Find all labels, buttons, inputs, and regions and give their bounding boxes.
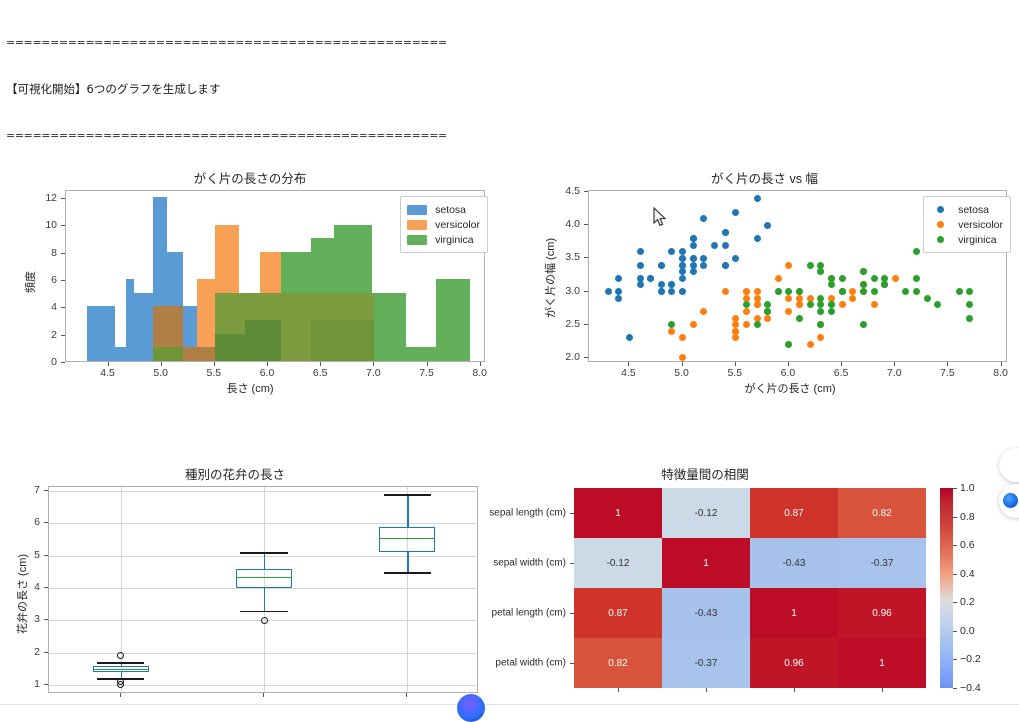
scatter-point	[934, 301, 941, 308]
x-tick-label: 5.5	[727, 367, 742, 379]
console-output-panel: ========================================…	[0, 0, 1019, 168]
y-tick-label: 5	[34, 549, 40, 561]
scatter-point	[754, 288, 761, 295]
scatter-point	[679, 354, 686, 361]
legend-dot-setosa	[937, 206, 944, 213]
scatter-point	[807, 301, 814, 308]
scatter-point	[679, 334, 686, 341]
y-tick-mark	[44, 522, 48, 523]
scatter-point	[817, 268, 824, 275]
heatmap-col-tick	[794, 688, 795, 692]
boxplot-title: 種別の花弁の長さ	[0, 464, 470, 483]
scatter-point	[700, 308, 707, 315]
scatter-point	[817, 334, 824, 341]
median-line	[236, 577, 292, 578]
scatter-point	[658, 288, 665, 295]
colorbar-tick-mark	[953, 488, 957, 489]
heatmap-row-label: petal length (cm)	[470, 608, 566, 619]
legend-item-virginica[interactable]: virginica	[930, 232, 1003, 247]
heatmap-colorbar: 1.00.80.60.40.20.0−0.2−0.4	[940, 488, 1010, 688]
scatter-title: がく片の長さ vs 幅	[510, 168, 1019, 187]
panel-heatmap: 特徴量間の相関 1-0.120.870.82-0.121-0.43-0.370.…	[470, 464, 1019, 707]
scatter-point	[722, 229, 729, 236]
x-tick-label: 6.0	[260, 367, 275, 379]
scatter-point	[732, 209, 739, 216]
scatter-point	[871, 301, 878, 308]
scatter-point	[860, 268, 867, 275]
y-tick-label: 2	[51, 329, 57, 341]
whisker-cap-upper	[384, 494, 431, 496]
y-tick-mark	[584, 191, 588, 192]
colorbar-tick-label: −0.4	[960, 682, 981, 694]
scatter-point	[732, 321, 739, 328]
heatmap-cell: 1	[838, 638, 926, 688]
outlier-marker	[117, 652, 124, 659]
colorbar-tick-mark	[953, 602, 957, 603]
y-tick-label: 7	[34, 484, 40, 496]
x-tick-label: 8.0	[993, 367, 1008, 379]
y-tick-mark	[584, 357, 588, 358]
page-divider	[0, 704, 1019, 705]
panel-histogram: がく片の長さの分布 頻度 長さ (cm) setosa versicolor v…	[0, 168, 500, 408]
scatter-point	[668, 321, 675, 328]
legend-item-setosa[interactable]: setosa	[930, 202, 1003, 217]
scatter-point	[615, 288, 622, 295]
heatmap-row-label: petal width (cm)	[470, 658, 566, 669]
y-tick-mark	[61, 335, 65, 336]
colorbar-tick-label: 0.8	[960, 511, 975, 523]
colorbar-tick-label: −0.2	[960, 653, 981, 665]
y-tick-label: 10	[45, 219, 57, 231]
heatmap-cell: 0.96	[750, 638, 838, 688]
x-tick-mark	[161, 362, 162, 366]
x-tick-mark	[373, 362, 374, 366]
x-tick-mark	[735, 362, 736, 366]
whisker-upper	[407, 494, 408, 527]
scatter-point	[690, 242, 697, 249]
scatter-point	[647, 275, 654, 282]
legend-item-setosa[interactable]: setosa	[407, 202, 480, 217]
colorbar-tick-mark	[953, 545, 957, 546]
histogram-bar-overlap	[311, 320, 334, 361]
x-tick-mark	[263, 693, 264, 697]
colorbar-tick-mark	[953, 517, 957, 518]
heatmap-cell: 0.87	[574, 588, 662, 638]
scatter-point	[817, 262, 824, 269]
matplotlib-figure: がく片の長さの分布 頻度 長さ (cm) setosa versicolor v…	[0, 168, 1019, 707]
y-tick-mark	[584, 291, 588, 292]
scatter-point	[743, 288, 750, 295]
histogram-bar-overlap	[183, 347, 197, 361]
histogram-bar-overlap	[334, 320, 374, 361]
scatter-point	[722, 288, 729, 295]
colorbar-tick-label: 0.6	[960, 539, 975, 551]
scatter-point	[690, 268, 697, 275]
scatter-point	[690, 235, 697, 242]
box-iqr	[236, 569, 292, 588]
category-grid-line	[121, 487, 122, 692]
grid-line	[49, 653, 477, 654]
scatter-point	[913, 288, 920, 295]
x-tick-label: 5.5	[207, 367, 222, 379]
median-line	[93, 669, 149, 670]
x-tick-label: 7.0	[887, 367, 902, 379]
scatter-point	[615, 295, 622, 302]
histogram-y-axis-label: 頻度	[22, 271, 38, 293]
y-tick-label: 6	[34, 516, 40, 528]
y-tick-label: 2.0	[565, 351, 580, 363]
legend-swatch-versicolor	[407, 220, 427, 230]
y-tick-mark	[44, 619, 48, 620]
scatter-point	[785, 341, 792, 348]
colorbar-tick-label: 0.2	[960, 596, 975, 608]
legend-label-virginica: virginica	[958, 234, 997, 246]
heatmap-cell: -0.43	[750, 538, 838, 588]
x-tick-mark	[788, 362, 789, 366]
heatmap-row-label: sepal length (cm)	[470, 508, 566, 519]
histogram-bar	[406, 347, 436, 361]
scatter-point	[924, 295, 931, 302]
grid-line	[49, 588, 477, 589]
y-tick-mark	[44, 652, 48, 653]
scatter-point	[732, 334, 739, 341]
heatmap-title: 特徴量間の相関	[470, 464, 940, 483]
scatter-point	[764, 222, 771, 229]
colorbar-tick-mark	[953, 688, 957, 689]
y-tick-label: 8	[51, 247, 57, 259]
x-tick-mark	[682, 362, 683, 366]
scatter-point	[722, 262, 729, 269]
heatmap-plot-area: 1-0.120.870.82-0.121-0.43-0.370.87-0.431…	[574, 488, 926, 688]
scatter-point	[807, 341, 814, 348]
scatter-point	[817, 321, 824, 328]
histogram-bar-overlap	[153, 347, 183, 361]
legend-label-versicolor: versicolor	[435, 219, 480, 231]
heatmap-cell: 1	[574, 488, 662, 538]
scatter-point	[796, 288, 803, 295]
y-tick-mark	[44, 587, 48, 588]
histogram-bar	[126, 279, 135, 361]
scatter-point	[754, 235, 761, 242]
y-tick-mark	[61, 362, 65, 363]
legend-swatch-setosa	[407, 205, 427, 215]
scatter-point	[775, 288, 782, 295]
scatter-y-axis-label: がく片の幅 (cm)	[542, 238, 558, 318]
scatter-point	[966, 315, 973, 322]
histogram-bar-overlap	[245, 320, 281, 361]
x-tick-label: 5.0	[674, 367, 689, 379]
y-tick-mark	[44, 490, 48, 491]
scatter-point	[860, 321, 867, 328]
y-tick-mark	[584, 224, 588, 225]
heatmap-col-tick	[882, 688, 883, 692]
y-tick-label: 3.5	[565, 251, 580, 263]
grid-line	[49, 556, 477, 557]
x-tick-mark	[628, 362, 629, 366]
scatter-point	[764, 308, 771, 315]
median-line	[379, 538, 435, 539]
scatter-point	[637, 281, 644, 288]
boxplot-y-axis-label: 花弁の長さ (cm)	[14, 554, 30, 634]
y-tick-label: 0	[51, 356, 57, 368]
scatter-point	[966, 288, 973, 295]
scatter-point	[743, 301, 750, 308]
scatter-point	[796, 301, 803, 308]
heatmap-cell: 0.96	[838, 588, 926, 638]
scatter-point	[764, 315, 771, 322]
scatter-point	[902, 288, 909, 295]
whisker-lower	[264, 588, 265, 611]
y-tick-label: 2	[34, 646, 40, 658]
scatter-point	[754, 301, 761, 308]
scatter-point	[732, 328, 739, 335]
scatter-point	[637, 275, 644, 282]
y-tick-label: 12	[45, 192, 57, 204]
whisker-cap-lower	[240, 611, 287, 613]
legend-item-versicolor[interactable]: versicolor	[930, 217, 1003, 232]
scatter-point	[722, 242, 729, 249]
x-tick-mark	[214, 362, 215, 366]
scatter-point	[732, 255, 739, 262]
scatter-point	[892, 275, 899, 282]
x-tick-label: 7.5	[419, 367, 434, 379]
heatmap-row-tick	[570, 613, 574, 614]
scatter-point	[605, 288, 612, 295]
x-tick-label: 6.5	[834, 367, 849, 379]
scatter-point	[732, 315, 739, 322]
scatter-point	[690, 321, 697, 328]
y-tick-mark	[61, 307, 65, 308]
scatter-point	[690, 255, 697, 262]
scatter-point	[839, 275, 846, 282]
x-tick-mark	[841, 362, 842, 366]
separator-rule-top: ========================================…	[6, 35, 1013, 51]
histogram-legend[interactable]: setosa versicolor virginica	[400, 196, 488, 253]
scatter-point	[785, 295, 792, 302]
colorbar-tick-label: 0.0	[960, 625, 975, 637]
scatter-point	[743, 321, 750, 328]
scatter-point	[626, 334, 633, 341]
x-tick-label: 6.0	[781, 367, 796, 379]
scatter-point	[913, 248, 920, 255]
histogram-bar-overlap	[215, 334, 245, 361]
x-tick-label: 7.0	[366, 367, 381, 379]
heatmap-cell: -0.37	[662, 638, 750, 688]
scatter-point	[849, 288, 856, 295]
y-tick-label: 4	[51, 301, 57, 313]
y-tick-label: 1	[34, 678, 40, 690]
scatter-point	[871, 275, 878, 282]
scatter-point	[754, 195, 761, 202]
scatter-point	[690, 262, 697, 269]
scatter-point	[913, 275, 920, 282]
scatter-point	[828, 301, 835, 308]
scatter-point	[668, 248, 675, 255]
grid-line	[49, 491, 477, 492]
scatter-point	[956, 288, 963, 295]
x-tick-label: 6.5	[313, 367, 328, 379]
scatter-point	[668, 288, 675, 295]
scatter-point	[871, 288, 878, 295]
whisker-cap-lower	[384, 572, 431, 574]
x-tick-label: 4.5	[621, 367, 636, 379]
histogram-bar	[134, 293, 153, 361]
y-tick-label: 4.0	[565, 218, 580, 230]
scatter-point	[700, 255, 707, 262]
heatmap-cell: -0.43	[662, 588, 750, 638]
heatmap-cell: -0.12	[662, 488, 750, 538]
scatter-point	[679, 255, 686, 262]
y-tick-label: 3.0	[565, 285, 580, 297]
y-tick-mark	[61, 198, 65, 199]
heatmap-cell: 0.82	[838, 488, 926, 538]
whisker-cap-upper	[97, 662, 144, 664]
scatter-point	[817, 301, 824, 308]
x-tick-mark	[406, 693, 407, 697]
scatter-x-axis-label: がく片の長さ (cm)	[570, 380, 1010, 396]
heatmap-cell: 1	[662, 538, 750, 588]
scatter-point	[743, 308, 750, 315]
y-tick-mark	[584, 324, 588, 325]
scatter-point	[754, 321, 761, 328]
globe-icon	[1003, 493, 1018, 508]
scatter-point	[615, 275, 622, 282]
separator-rule-bottom: ========================================…	[6, 128, 1013, 144]
boxplot-plot-area	[48, 486, 478, 693]
legend-label-virginica: virginica	[435, 234, 474, 246]
x-tick-mark	[480, 362, 481, 366]
x-tick-mark	[120, 693, 121, 697]
colorbar-tick-label: 0.4	[960, 568, 975, 580]
scatter-legend[interactable]: setosa versicolor virginica	[923, 196, 1011, 253]
whisker-lower	[407, 552, 408, 571]
heatmap-cell: 0.82	[574, 638, 662, 688]
legend-label-setosa: setosa	[958, 204, 989, 216]
x-tick-mark	[108, 362, 109, 366]
legend-item-versicolor[interactable]: versicolor	[407, 217, 480, 232]
scatter-point	[881, 281, 888, 288]
heatmap-cell: -0.37	[838, 538, 926, 588]
scatter-point	[637, 262, 644, 269]
legend-label-setosa: setosa	[435, 204, 466, 216]
scatter-point	[839, 301, 846, 308]
x-tick-mark	[1001, 362, 1002, 366]
grid-line	[49, 685, 477, 686]
y-tick-label: 6	[51, 274, 57, 286]
heatmap-col-tick	[618, 688, 619, 692]
panel-boxplot: 種別の花弁の長さ 花弁の長さ (cm) 1234567	[0, 464, 470, 707]
scatter-point	[796, 315, 803, 322]
x-tick-mark	[267, 362, 268, 366]
scatter-point	[775, 275, 782, 282]
scatter-point	[668, 281, 675, 288]
panel-scatter: がく片の長さ vs 幅 がく片の幅 (cm) がく片の長さ (cm) setos…	[510, 168, 1019, 408]
legend-item-virginica[interactable]: virginica	[407, 232, 480, 247]
heatmap-cell: -0.12	[574, 538, 662, 588]
colorbar-tick-mark	[953, 659, 957, 660]
scatter-point	[711, 242, 718, 249]
scatter-point	[668, 328, 675, 335]
scatter-point	[658, 262, 665, 269]
y-tick-label: 4.5	[565, 185, 580, 197]
colorbar-tick-mark	[953, 574, 957, 575]
scatter-point	[679, 275, 686, 282]
y-tick-mark	[44, 555, 48, 556]
heatmap-row-label: sepal width (cm)	[470, 558, 566, 569]
scatter-point	[785, 288, 792, 295]
x-tick-label: 8.0	[472, 367, 487, 379]
y-tick-mark	[584, 257, 588, 258]
y-tick-label: 2.5	[565, 318, 580, 330]
heatmap-cell: 0.87	[750, 488, 838, 538]
scatter-point	[700, 215, 707, 222]
scatter-point	[807, 262, 814, 269]
colorbar-tick-mark	[953, 631, 957, 632]
x-tick-mark	[894, 362, 895, 366]
histogram-bar	[87, 306, 115, 361]
y-tick-mark	[44, 684, 48, 685]
histogram-title: がく片の長さの分布	[0, 168, 500, 187]
legend-label-versicolor: versicolor	[958, 219, 1003, 231]
box-iqr	[379, 527, 435, 552]
x-tick-mark	[427, 362, 428, 366]
y-tick-mark	[61, 280, 65, 281]
heatmap-col-tick	[706, 688, 707, 692]
scatter-point	[828, 281, 835, 288]
grid-line	[49, 523, 477, 524]
scatter-point	[860, 288, 867, 295]
x-tick-label: 5.0	[153, 367, 168, 379]
x-tick-label: 7.5	[940, 367, 955, 379]
scatter-point	[817, 308, 824, 315]
heatmap-row-tick	[570, 513, 574, 514]
histogram-bar	[372, 293, 406, 361]
scatter-point	[849, 295, 856, 302]
histogram-bar	[436, 279, 470, 361]
y-tick-mark	[61, 225, 65, 226]
scatter-point	[828, 308, 835, 315]
y-tick-label: 4	[34, 581, 40, 593]
colorbar-gradient	[940, 488, 953, 688]
scatter-point	[700, 262, 707, 269]
log-headline: 【可視化開始】6つのグラフを生成します	[6, 82, 1013, 98]
histogram-bar	[115, 347, 126, 361]
heatmap-cell: 1	[750, 588, 838, 638]
legend-dot-versicolor	[937, 221, 944, 228]
y-tick-mark	[61, 253, 65, 254]
scatter-point	[839, 288, 846, 295]
scatter-point	[679, 288, 686, 295]
x-tick-mark	[320, 362, 321, 366]
heatmap-row-tick	[570, 563, 574, 564]
outlier-marker	[261, 617, 268, 624]
scatter-point	[966, 301, 973, 308]
whisker-upper	[264, 552, 265, 568]
heatmap-row-tick	[570, 663, 574, 664]
legend-swatch-virginica	[407, 235, 427, 245]
histogram-x-axis-label: 長さ (cm)	[0, 380, 500, 396]
histogram-bar-overlap	[197, 347, 215, 361]
y-tick-label: 3	[34, 613, 40, 625]
scatter-point	[785, 308, 792, 315]
scatter-point	[679, 268, 686, 275]
loading-orb-indicator	[457, 694, 485, 722]
legend-dot-virginica	[937, 236, 944, 243]
x-tick-mark	[947, 362, 948, 366]
scatter-point	[637, 248, 644, 255]
scatter-point	[785, 262, 792, 269]
whisker-cap-upper	[240, 552, 287, 554]
